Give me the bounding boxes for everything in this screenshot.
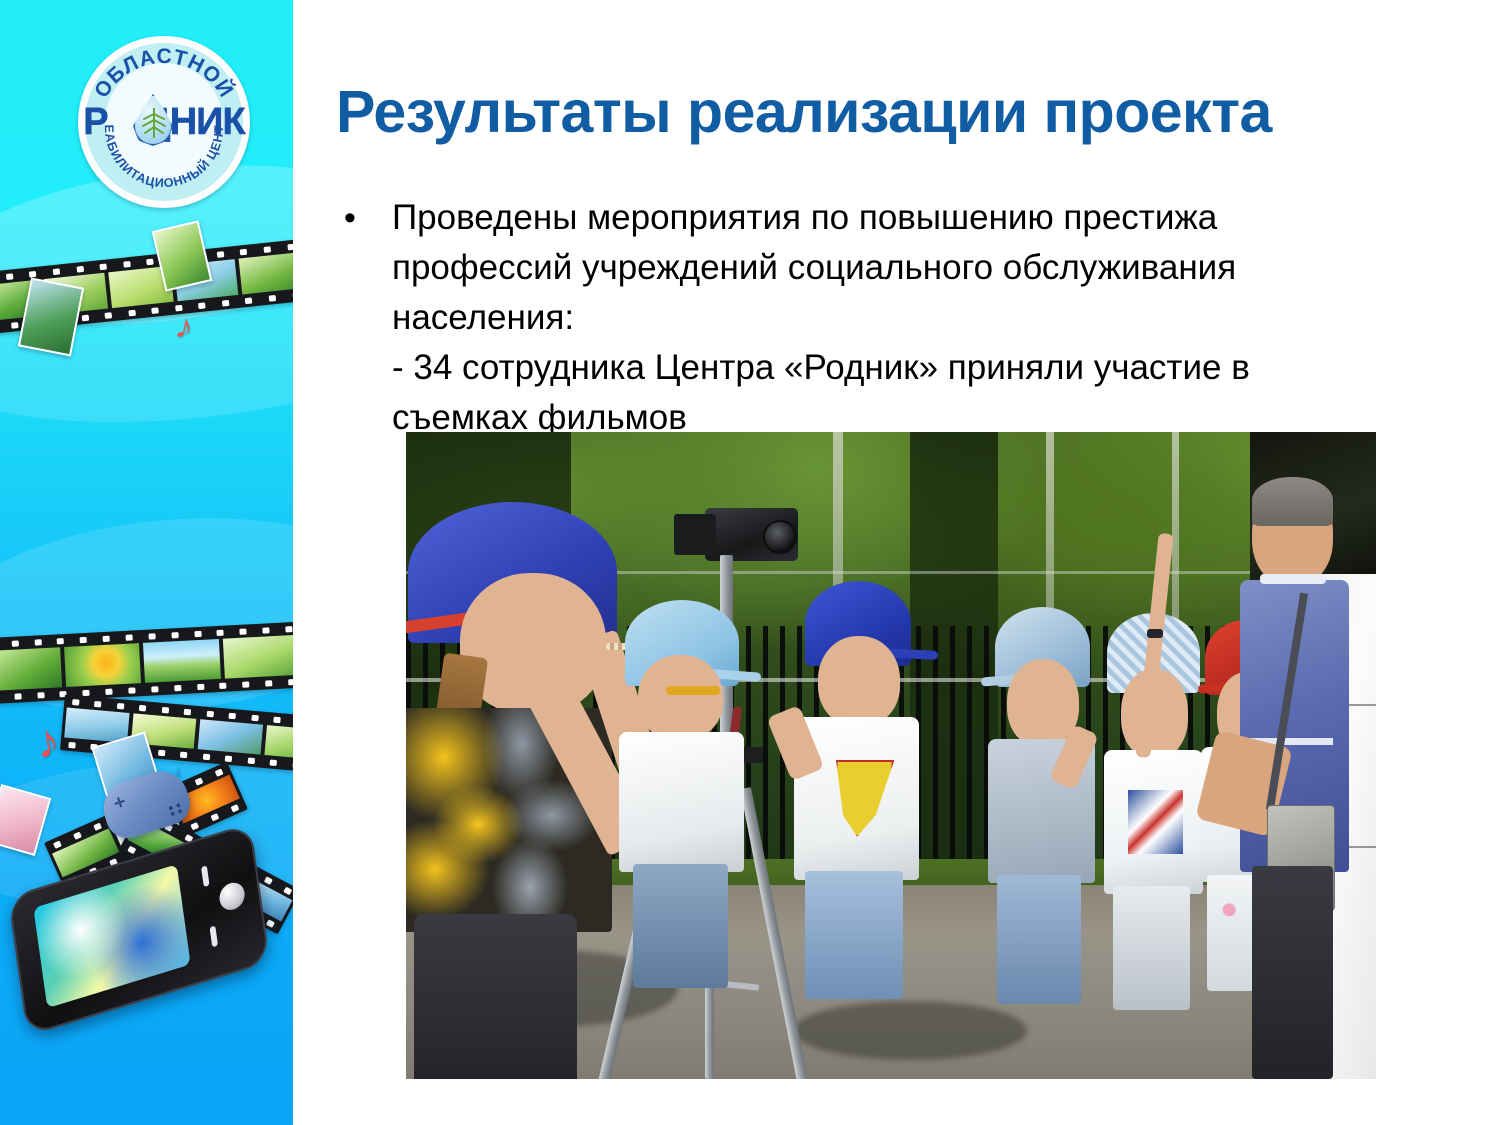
gamepad-buttons-icon: ● ●● ● <box>167 801 183 817</box>
boy-head <box>818 636 899 726</box>
logo-center-left: Р <box>83 101 107 143</box>
wrist-watch <box>1147 629 1163 638</box>
denim-shorts <box>805 871 903 999</box>
gamepad-dpad-icon: ✛ <box>112 794 127 813</box>
phone-speaker <box>210 926 219 948</box>
boy-with-sunglasses <box>619 600 755 988</box>
operator-leggings <box>414 914 577 1079</box>
film-strip-middle <box>0 622 293 705</box>
bullet-item: • Проведены мероприятия по повышению пре… <box>338 193 1378 443</box>
boy-superman-shirt <box>794 581 930 1008</box>
bullet-marker: • <box>338 193 392 243</box>
content-body: • Проведены мероприятия по повышению пре… <box>338 193 1378 443</box>
music-note-red: ♪ <box>33 717 62 766</box>
decorative-sidebar: ОБЛАСТНОЙ РЕАБИЛИТАЦИОННЫЙ ЦЕНТР РДНИК <box>0 0 293 1125</box>
camera-mic <box>674 514 717 555</box>
boy-grey-tshirt <box>988 607 1104 1008</box>
phone-screen <box>33 864 191 1008</box>
plant-sprout-icon <box>140 106 168 140</box>
loose-photo-frame <box>18 277 84 356</box>
man-blue-polo <box>1240 471 1376 1079</box>
union-jack-print <box>1128 790 1183 854</box>
oblastnoy-rodnik-logo: ОБЛАСТНОЙ РЕАБИЛИТАЦИОННЫЙ ЦЕНТР РДНИК <box>78 36 250 208</box>
yellow-sunglasses <box>666 686 720 695</box>
camera-lens <box>763 520 797 554</box>
boy-london-tshirt <box>1104 613 1211 1014</box>
boy-shorts <box>633 864 728 988</box>
bullet-text: Проведены мероприятия по повышению прест… <box>392 193 1378 443</box>
phone-home-button <box>218 880 247 914</box>
man-hair <box>1252 477 1333 526</box>
page-title: Результаты реализации проекта <box>336 78 1466 146</box>
polo-collar <box>1260 574 1326 584</box>
boy-head <box>638 655 722 740</box>
man-trousers <box>1252 866 1333 1079</box>
project-photo-film-shooting <box>406 432 1376 1079</box>
loose-photo-frame <box>0 784 51 856</box>
light-shorts <box>1113 886 1190 1010</box>
white-tshirt <box>619 732 744 872</box>
denim-shorts <box>997 875 1081 1003</box>
logo-arc-top-text: ОБЛАСТНОЙ <box>90 45 239 102</box>
phone-speaker <box>201 865 210 887</box>
presentation-slide: ОБЛАСТНОЙ РЕАБИЛИТАЦИОННЫЙ ЦЕНТР РДНИК <box>0 0 1500 1125</box>
